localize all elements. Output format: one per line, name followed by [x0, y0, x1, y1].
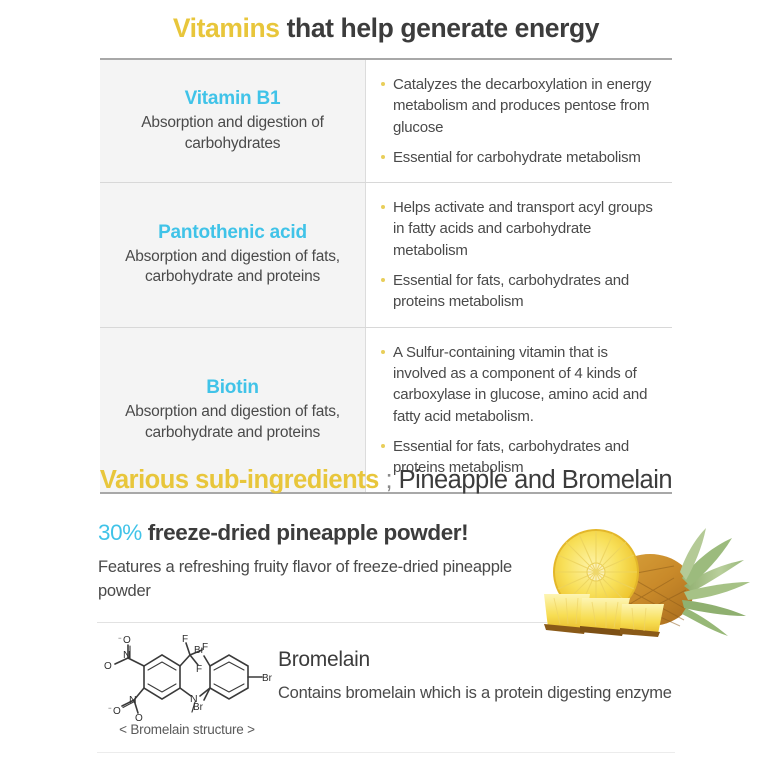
vitamins-title-rest: that help generate energy [280, 13, 599, 43]
vitamin-name-cell: Pantothenic acid Absorption and digestio… [100, 183, 366, 326]
svg-text:−: − [108, 706, 112, 712]
sub-ingredients-title-separator: ; [379, 466, 399, 494]
sub-ingredients-section-title: Various sub-ingredients ; Pineapple and … [0, 466, 772, 495]
table-row: Pantothenic acid Absorption and digestio… [100, 182, 672, 326]
vitamins-title-highlight: Vitamins [173, 13, 280, 43]
page-root: Vitamins that help generate energy Vitam… [0, 0, 772, 772]
vitamin-name-cell: Vitamin B1 Absorption and digestion of c… [100, 60, 366, 182]
benefit-bullet: Helps activate and transport acyl groups… [380, 197, 662, 261]
vitamin-name: Biotin [206, 377, 259, 399]
structure-caption: < Bromelain structure > [92, 722, 282, 737]
vitamin-benefits-cell: Catalyzes the decarboxylation in energy … [366, 60, 672, 182]
pineapple-headline-rest: freeze-dried pineapple powder! [142, 520, 468, 545]
vitamin-description: Absorption and digestion of carbohydrate… [112, 113, 353, 154]
atom-label-F: F [196, 664, 202, 675]
svg-text:−: − [118, 636, 122, 642]
benefit-bullet: Catalyzes the decarboxylation in energy … [380, 74, 662, 138]
table-row: Vitamin B1 Absorption and digestion of c… [100, 60, 672, 182]
sub-ingredients-title-rest: Pineapple and Bromelain [399, 466, 672, 494]
atom-label-O: O [113, 706, 121, 717]
atom-label-O: O [104, 661, 112, 672]
pineapple-description: Features a refreshing fruity flavor of f… [98, 556, 528, 604]
bromelain-description: Contains bromelain which is a protein di… [278, 682, 698, 706]
bromelain-heading: Bromelain [278, 648, 370, 672]
atom-label-O: O [123, 635, 131, 646]
pineapple-percent: 30% [98, 520, 142, 545]
vitamin-name: Pantothenic acid [158, 222, 307, 244]
vitamin-name: Vitamin B1 [185, 88, 281, 110]
vitamin-description: Absorption and digestion of fats, carboh… [112, 247, 353, 288]
atom-label-Br: Br [193, 702, 204, 713]
benefit-bullet: A Sulfur-containing vitamin that is invo… [380, 342, 662, 427]
atom-label-F: F [182, 634, 188, 645]
section-divider-bottom [97, 752, 675, 753]
vitamin-benefits-cell: Helps activate and transport acyl groups… [366, 183, 672, 326]
pineapple-leaves [680, 528, 750, 636]
benefit-bullet: Essential for carbohydrate metabolism [380, 147, 662, 168]
benefit-bullet: Essential for fats, carbohydrates and pr… [380, 270, 662, 313]
sub-ingredients-title-highlight: Various sub-ingredients [100, 466, 379, 494]
vitamins-section-title: Vitamins that help generate energy [0, 13, 772, 44]
atom-label-Br: Br [194, 645, 205, 656]
atom-label-N: N [129, 694, 137, 706]
pineapple-headline: 30% freeze-dried pineapple powder! [98, 520, 468, 546]
pineapple-photo [534, 520, 756, 638]
vitamins-table: Vitamin B1 Absorption and digestion of c… [100, 58, 672, 494]
section-divider-middle [97, 622, 547, 623]
atom-label-Br: Br [262, 673, 273, 684]
vitamin-description: Absorption and digestion of fats, carboh… [112, 402, 353, 443]
pineapple-illustration [534, 520, 756, 638]
atom-label-N: N [123, 649, 131, 661]
